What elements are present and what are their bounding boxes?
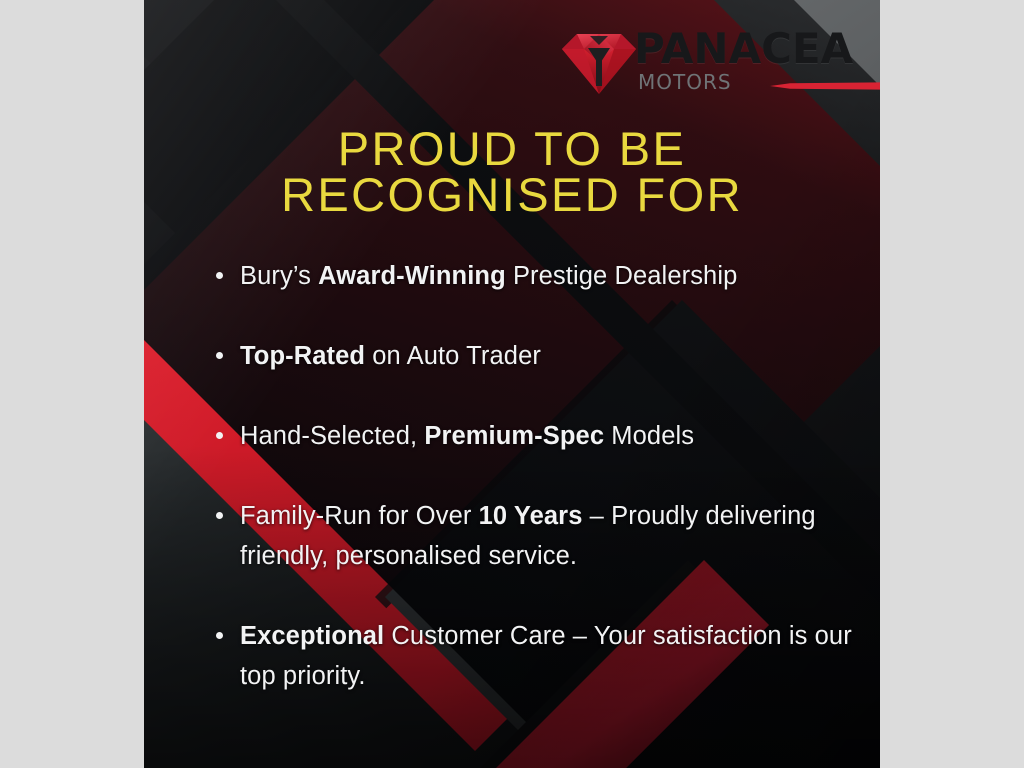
page-title: PROUD TO BE RECOGNISED FOR [144,126,880,218]
bullet-dot-icon [216,432,223,439]
list-item: Hand-Selected, Premium-Spec Models [204,416,864,456]
list-item-text: Exceptional Customer Care – Your satisfa… [240,622,852,690]
poster-stage: PANACEA MOTORS PROUD TO BE RECOGNISED FO… [0,0,1024,768]
brand-rule-icon [770,82,880,90]
bullet-dot-icon [216,512,223,519]
matte-right [880,0,1024,768]
page-title-line-1: PROUD TO BE [144,126,880,172]
poster-content: PANACEA MOTORS PROUD TO BE RECOGNISED FO… [144,0,880,768]
brand-logo: PANACEA MOTORS [562,26,862,104]
list-item: Top-Rated on Auto Trader [204,336,864,376]
list-item-text: Hand-Selected, Premium-Spec Models [240,422,694,450]
bullet-dot-icon [216,632,223,639]
poster-artwork: PANACEA MOTORS PROUD TO BE RECOGNISED FO… [144,0,880,768]
page-title-line-2: RECOGNISED FOR [144,172,880,218]
list-item-text: Bury’s Award-Winning Prestige Dealership [240,262,737,290]
list-item: Exceptional Customer Care – Your satisfa… [204,616,864,696]
brand-subtitle: MOTORS [638,72,732,92]
brand-wordmark: PANACEA MOTORS [636,26,862,104]
list-item: Family-Run for Over 10 Years – Proudly d… [204,496,864,576]
highlights-list: Bury’s Award-Winning Prestige Dealership… [204,256,864,696]
diamond-gem-icon [562,32,636,94]
list-item-text: Family-Run for Over 10 Years – Proudly d… [240,502,816,570]
list-item-text: Top-Rated on Auto Trader [240,342,541,370]
bullet-dot-icon [216,272,223,279]
matte-left [0,0,144,768]
list-item: Bury’s Award-Winning Prestige Dealership [204,256,864,296]
bullet-dot-icon [216,352,223,359]
brand-name: PANACEA [634,28,853,70]
